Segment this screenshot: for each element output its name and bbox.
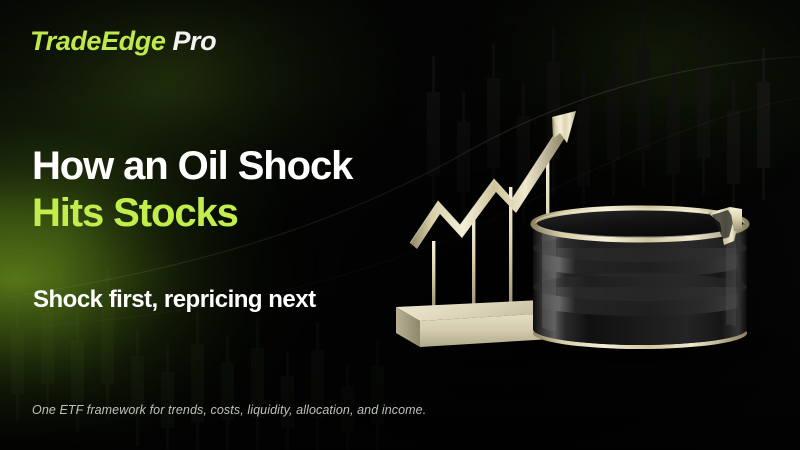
brand-name-secondary: Pro	[172, 26, 216, 56]
page-title: How an Oil Shock Hits Stocks	[32, 143, 352, 237]
headline-line-2: Hits Stocks	[32, 190, 352, 237]
promo-banner: TradeEdgePro How an Oil Shock Hits Stock…	[0, 0, 800, 450]
brand-logo: TradeEdgePro	[30, 26, 216, 57]
headline-line-1: How an Oil Shock	[32, 143, 352, 190]
brand-name-primary: TradeEdge	[30, 26, 165, 56]
footer-caption: One ETF framework for trends, costs, liq…	[32, 403, 426, 417]
subtitle: Shock first, repricing next	[33, 286, 316, 314]
product-artwork	[390, 95, 800, 365]
